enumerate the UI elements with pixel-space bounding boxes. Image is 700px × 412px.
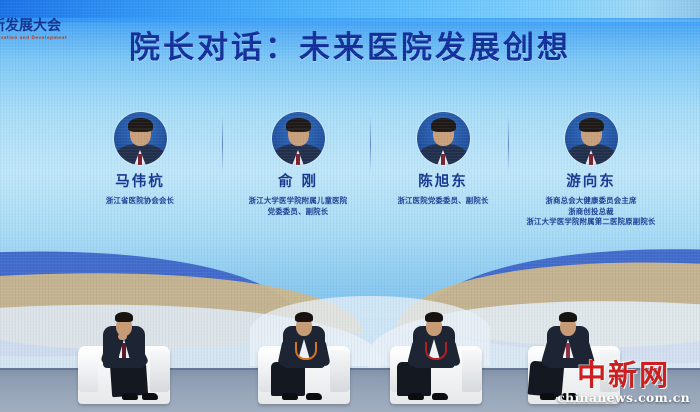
watermark-url: chinanews.com.cn: [557, 392, 690, 405]
panelist-avatar-3: [565, 112, 618, 165]
panelist-card-0: 马伟杭 浙江省医院协会会长: [60, 112, 220, 207]
panelist-title-line: 浙商总会大健康委员会主席: [505, 196, 677, 207]
panelist-avatar-2: [417, 112, 470, 165]
panelist-title-line: 浙江大学医学院附属儿童医院: [218, 196, 378, 207]
panelist-title-line: 党委委员、副院长: [218, 207, 378, 218]
panelist-title-1: 浙江大学医学院附属儿童医院 党委委员、副院长: [218, 196, 378, 217]
panelist-avatar-0: [114, 112, 167, 165]
panelist-title-line: 浙江大学医学院附属第二医院原副院长: [505, 217, 677, 228]
panelist-title-line: 浙江医院党委委员、副院长: [368, 196, 518, 207]
watermark-logo-cn: 中新网: [557, 361, 690, 390]
panelist-card-3: 游向东 浙商总会大健康委员会主席 浙商创投总裁 浙江大学医学院附属第二医院原副院…: [505, 112, 677, 228]
conference-photo: 新发展大会 l Innovation and Development 院长对话：…: [0, 0, 700, 412]
panelist-avatar-1: [272, 112, 325, 165]
panelist-title-line: 浙商创投总裁: [505, 207, 677, 218]
panelist-title-3: 浙商总会大健康委员会主席 浙商创投总裁 浙江大学医学院附属第二医院原副院长: [505, 196, 677, 228]
panelist-divider-1: [370, 116, 371, 172]
panelist-card-1: 俞 刚 浙江大学医学院附属儿童医院 党委委员、副院长: [218, 112, 378, 217]
panelist-name-0: 马伟杭: [60, 174, 220, 191]
screen-top-band: [0, 0, 700, 22]
person-figure-0: [98, 302, 150, 398]
panelist-title-2: 浙江医院党委委员、副院长: [368, 196, 518, 207]
person-figure-1: [278, 302, 330, 398]
panelist-divider-2: [508, 116, 509, 172]
panelist-divider-0: [222, 116, 223, 172]
panelist-title-line: 浙江省医院协会会长: [60, 196, 220, 207]
panelist-card-2: 陈旭东 浙江医院党委委员、副院长: [368, 112, 518, 207]
panelist-name-3: 游向东: [505, 174, 677, 191]
person-figure-2: [408, 302, 460, 398]
watermark: 中新网 chinanews.com.cn: [557, 361, 690, 405]
panelist-name-1: 俞 刚: [218, 174, 378, 191]
session-title: 院长对话：未来医院发展创想: [0, 26, 700, 70]
panelist-list: 马伟杭 浙江省医院协会会长 俞 刚 浙江大学医学院附属儿童医院 党委委员、副院长: [0, 112, 700, 232]
panelist-name-2: 陈旭东: [368, 174, 518, 191]
panelist-title-0: 浙江省医院协会会长: [60, 196, 220, 207]
